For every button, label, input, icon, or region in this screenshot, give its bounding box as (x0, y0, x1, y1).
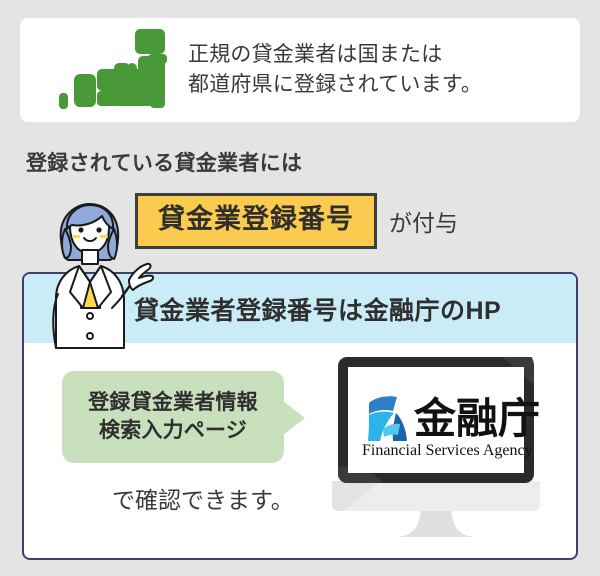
desktop-monitor-icon: 金融庁 Financial Services Agency (324, 355, 548, 551)
registered-lenders-lead-text: 登録されている貸金業者には (26, 147, 302, 177)
notice-text: 正規の貸金業者は国または 都道府県に登録されています。 (188, 40, 482, 100)
bubble-line-1: 登録貸金業者情報 (88, 389, 258, 417)
registration-number-badge: 貸金業登録番号 (135, 193, 377, 249)
japan-map-icon (52, 27, 172, 113)
badge-suffix-text: が付与 (389, 204, 458, 238)
bubble-tail-icon (283, 401, 305, 435)
panel-body: 登録貸金業者情報 検索入力ページ で確認できます。 (24, 343, 576, 560)
notice-card: 正規の貸金業者は国または 都道府県に登録されています。 (20, 18, 580, 122)
fsa-logo-title: 金融庁 (413, 394, 540, 443)
notice-line-2: 都道府県に登録されています。 (188, 70, 482, 100)
fsa-logo-subtitle: Financial Services Agency (362, 442, 533, 459)
fsa-lookup-panel: 貸金業者登録番号は金融庁のHP 登録貸金業者情報 検索入力ページ で確認できます… (22, 272, 578, 560)
registration-number-badge-row: 貸金業登録番号 が付与 (135, 193, 458, 249)
bubble-line-2: 検索入力ページ (99, 417, 247, 445)
panel-header: 貸金業者登録番号は金融庁のHP (24, 274, 576, 343)
search-page-bubble: 登録貸金業者情報 検索入力ページ (62, 371, 284, 463)
panel-header-text: 貸金業者登録番号は金融庁のHP (134, 291, 501, 327)
notice-line-1: 正規の貸金業者は国または (188, 40, 482, 70)
confirm-text: で確認できます。 (112, 481, 294, 515)
